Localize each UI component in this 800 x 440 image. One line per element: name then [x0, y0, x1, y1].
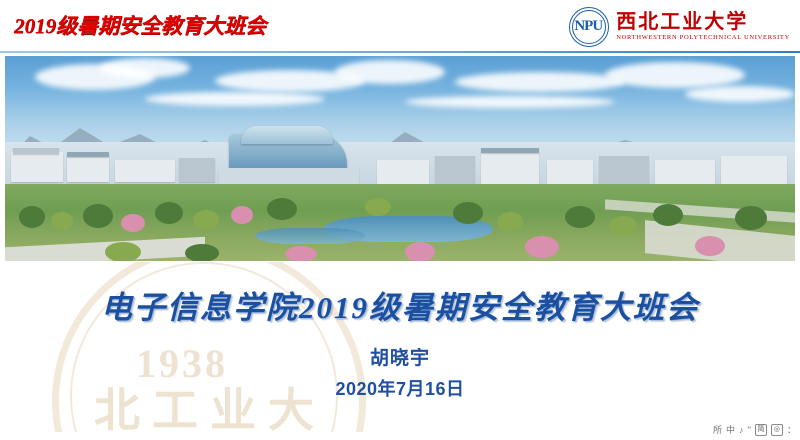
- ime-item-3[interactable]: '': [748, 423, 751, 437]
- slide-root: 2019级暑期安全教育大班会 NPU 西北工业大学 NORTHWESTERN P…: [0, 0, 800, 440]
- ime-item-1[interactable]: 中: [726, 423, 735, 437]
- university-name-cn: 西北工业大学: [616, 12, 790, 33]
- header-divider: [0, 51, 800, 53]
- ime-item-0[interactable]: 所: [713, 423, 722, 437]
- ime-item-4[interactable]: 简: [755, 424, 767, 436]
- header-title: 2019级暑期安全教育大班会: [14, 10, 266, 40]
- presentation-date: 2020年7月16日: [0, 375, 800, 401]
- ime-item-6[interactable]: ：: [787, 423, 796, 437]
- ime-item-5[interactable]: ◎: [771, 424, 783, 436]
- university-name-en: NORTHWESTERN POLYTECHNICAL UNIVERSITY: [616, 34, 790, 42]
- university-logo: NPU 西北工业大学 NORTHWESTERN POLYTECHNICAL UN…: [569, 6, 790, 48]
- page-title: 电子信息学院2019级暑期安全教育大班会: [0, 282, 800, 327]
- university-name-block: 西北工业大学 NORTHWESTERN POLYTECHNICAL UNIVER…: [616, 12, 790, 42]
- campus-photo: [5, 56, 795, 261]
- presenter-name: 胡晓宇: [0, 343, 800, 370]
- ime-item-2[interactable]: ♪: [739, 423, 744, 437]
- seal-monogram: NPU: [569, 7, 607, 45]
- slide-header: 2019级暑期安全教育大班会 NPU 西北工业大学 NORTHWESTERN P…: [0, 0, 800, 52]
- university-seal-icon: NPU: [569, 7, 609, 47]
- ime-toolbar[interactable]: 所 中 ♪ '' 简 ◎ ：: [713, 423, 796, 437]
